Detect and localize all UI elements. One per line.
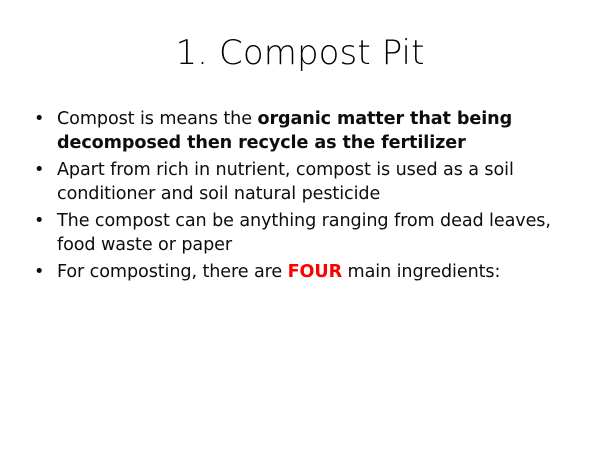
bullet-dot-icon: • xyxy=(34,209,48,233)
list-item-text: The compost can be anything ranging from… xyxy=(57,209,568,257)
bullet-dot-icon: • xyxy=(34,158,48,182)
body-text: Apart from rich in nutrient, compost is … xyxy=(57,160,514,204)
list-item-text: For composting, there are FOUR main ingr… xyxy=(57,260,568,284)
bullet-dot-icon: • xyxy=(34,107,48,131)
list-item-text: Compost is means the organic matter that… xyxy=(57,107,568,155)
emphasis-accent-text: FOUR xyxy=(288,262,342,282)
list-item: •Compost is means the organic matter tha… xyxy=(28,107,568,155)
page-title: 1. Compost Pit xyxy=(0,33,600,73)
body-text: The compost can be anything ranging from… xyxy=(57,211,551,255)
slide-canvas: 1. Compost Pit •Compost is means the org… xyxy=(0,0,600,450)
body-text: main ingredients: xyxy=(342,262,500,282)
list-item: •Apart from rich in nutrient, compost is… xyxy=(28,158,568,206)
list-item-text: Apart from rich in nutrient, compost is … xyxy=(57,158,568,206)
list-item: •The compost can be anything ranging fro… xyxy=(28,209,568,257)
list-item: •For composting, there are FOUR main ing… xyxy=(28,260,568,284)
bullet-dot-icon: • xyxy=(34,260,48,284)
bullet-list: •Compost is means the organic matter tha… xyxy=(28,107,568,284)
body-text: Compost is means the xyxy=(57,109,257,129)
body-text: For composting, there are xyxy=(57,262,288,282)
